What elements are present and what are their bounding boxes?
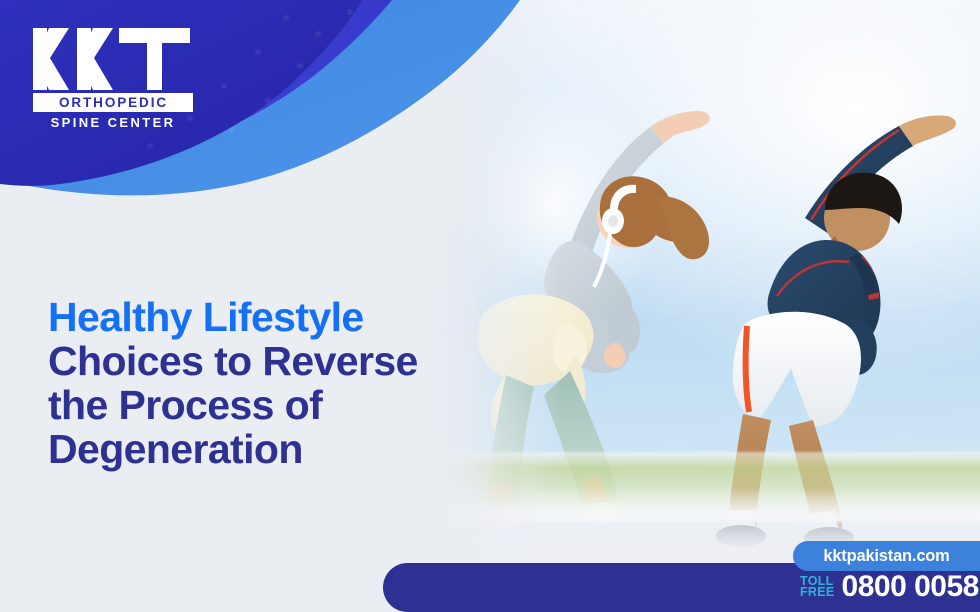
logo-spine-center-label: SPINE CENTER: [33, 116, 193, 130]
page-title: Healthy Lifestyle Choices to Reverse the…: [48, 295, 518, 471]
toll-label-line-2: FREE: [800, 587, 835, 599]
kkt-wordmark-icon: [33, 28, 190, 90]
headline-line-3: the Process of: [48, 383, 518, 427]
logo-orthopedic-label: ORTHOPEDIC: [33, 93, 193, 112]
toll-free-block[interactable]: TOLL FREE 0800 0058: [800, 572, 979, 602]
kkt-logo[interactable]: ORTHOPEDIC SPINE CENTER: [33, 28, 193, 130]
headline-line-1: Healthy Lifestyle: [48, 295, 518, 339]
toll-free-label: TOLL FREE: [800, 576, 835, 599]
headline-line-2: Choices to Reverse: [48, 339, 518, 383]
promotional-banner: ORTHOPEDIC SPINE CENTER Healthy Lifestyl…: [0, 0, 980, 612]
website-pill[interactable]: kktpakistan.com: [793, 541, 980, 571]
phone-number[interactable]: 0800 0058: [842, 572, 979, 602]
website-url[interactable]: kktpakistan.com: [823, 547, 949, 566]
headline-line-4: Degeneration: [48, 427, 518, 471]
